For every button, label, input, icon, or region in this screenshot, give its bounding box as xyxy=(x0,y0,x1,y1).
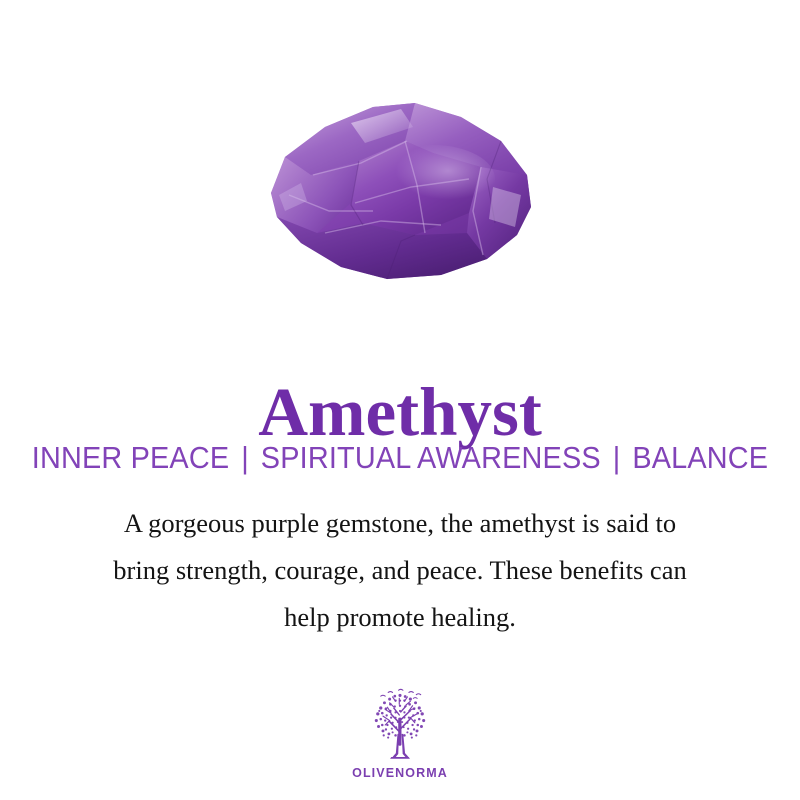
description-line: help promote healing. xyxy=(50,594,750,641)
keyword-separator: | xyxy=(237,440,252,475)
keyword-separator: | xyxy=(609,440,624,475)
amethyst-crystal-svg xyxy=(255,83,545,288)
brand-logo: OLIVENORMA xyxy=(0,688,800,780)
keyword-list: INNER PEACE | SPIRITUAL AWARENESS | BALA… xyxy=(28,442,772,475)
keyword-inner-peace: INNER PEACE xyxy=(32,440,229,475)
description-line: A gorgeous purple gemstone, the amethyst… xyxy=(50,500,750,547)
description-text: A gorgeous purple gemstone, the amethyst… xyxy=(50,500,750,641)
amethyst-info-card: Amethyst INNER PEACE | SPIRITUAL AWARENE… xyxy=(0,0,800,800)
tree-of-life-icon xyxy=(362,688,438,762)
keyword-balance: BALANCE xyxy=(632,440,768,475)
gemstone-image-container xyxy=(0,70,800,300)
keyword-spiritual-awareness: SPIRITUAL AWARENESS xyxy=(261,440,601,475)
crystal-inner-glow xyxy=(371,145,495,213)
description-line: bring strength, courage, and peace. Thes… xyxy=(50,547,750,594)
amethyst-crystal-image xyxy=(255,83,545,288)
brand-name: OLIVENORMA xyxy=(352,766,448,780)
page-title: Amethyst xyxy=(0,378,800,447)
